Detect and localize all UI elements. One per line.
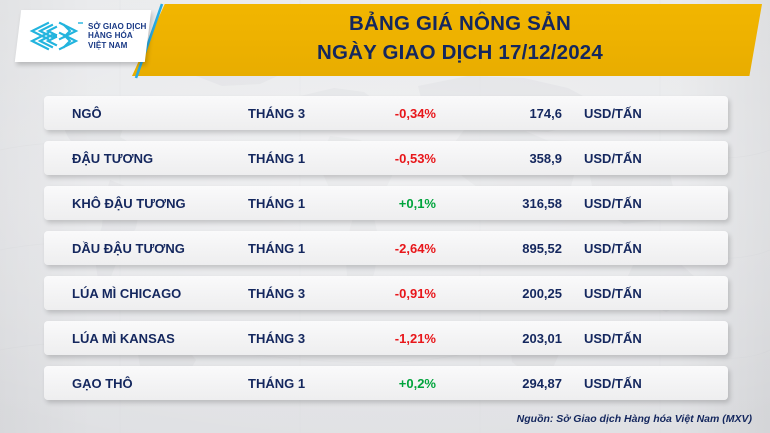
commodity-name: KHÔ ĐẬU TƯƠNG [72, 196, 186, 211]
header: BẢNG GIÁ NÔNG SẢN NGÀY GIAO DỊCH 17/12/2… [0, 0, 770, 82]
table-row[interactable]: DẦU ĐẬU TƯƠNGTHÁNG 1-2,64%895,52USD/TẤN [44, 231, 728, 265]
price-value: 203,01 [444, 331, 562, 346]
contract-month: THÁNG 1 [248, 196, 305, 211]
logo-line-3: VIỆT NAM [88, 41, 146, 51]
price-unit: USD/TẤN [584, 151, 642, 166]
price-change: +0,1% [314, 196, 436, 211]
contract-month: THÁNG 3 [248, 286, 305, 301]
commodity-name: NGÔ [72, 106, 102, 121]
table-row[interactable]: GẠO THÔTHÁNG 1+0,2%294,87USD/TẤN [44, 366, 728, 400]
price-unit: USD/TẤN [584, 331, 642, 346]
title-line-2: NGÀY GIAO DỊCH 17/12/2024 [180, 38, 740, 67]
price-change: -1,21% [314, 331, 436, 346]
price-change: -0,91% [314, 286, 436, 301]
logo-line-2: HÀNG HÓA [88, 31, 146, 41]
table-row[interactable]: NGÔTHÁNG 3-0,34%174,6USD/TẤN [44, 96, 728, 130]
price-value: 316,58 [444, 196, 562, 211]
price-unit: USD/TẤN [584, 106, 642, 121]
price-value: 358,9 [444, 151, 562, 166]
table-row[interactable]: LÚA MÌ KANSASTHÁNG 3-1,21%203,01USD/TẤN [44, 321, 728, 355]
price-value: 174,6 [444, 106, 562, 121]
table-row[interactable]: ĐẬU TƯƠNGTHÁNG 1-0,53%358,9USD/TẤN [44, 141, 728, 175]
commodity-name: LÚA MÌ KANSAS [72, 331, 175, 346]
logo-text: SỞ GIAO DỊCH HÀNG HÓA VIỆT NAM [88, 22, 146, 51]
contract-month: THÁNG 3 [248, 331, 305, 346]
price-unit: USD/TẤN [584, 196, 642, 211]
logo-line-1: SỞ GIAO DỊCH [88, 22, 146, 32]
price-unit: USD/TẤN [584, 286, 642, 301]
price-value: 200,25 [444, 286, 562, 301]
price-value: 294,87 [444, 376, 562, 391]
table-row[interactable]: LÚA MÌ CHICAGOTHÁNG 3-0,91%200,25USD/TẤN [44, 276, 728, 310]
price-change: -0,53% [314, 151, 436, 166]
logo[interactable]: SỞ GIAO DỊCH HÀNG HÓA VIỆT NAM [15, 10, 151, 62]
price-value: 895,52 [444, 241, 562, 256]
commodity-name: GẠO THÔ [72, 376, 133, 391]
price-change: -0,34% [314, 106, 436, 121]
commodity-name: ĐẬU TƯƠNG [72, 151, 153, 166]
source-note: Nguồn: Sở Giao dịch Hàng hóa Việt Nam (M… [517, 413, 752, 425]
contract-month: THÁNG 1 [248, 241, 305, 256]
price-change: +0,2% [314, 376, 436, 391]
price-change: -2,64% [314, 241, 436, 256]
commodity-price-table: NGÔTHÁNG 3-0,34%174,6USD/TẤNĐẬU TƯƠNGTHÁ… [44, 96, 728, 400]
contract-month: THÁNG 1 [248, 151, 305, 166]
page-title: BẢNG GIÁ NÔNG SẢN NGÀY GIAO DỊCH 17/12/2… [180, 9, 740, 67]
commodity-name: LÚA MÌ CHICAGO [72, 286, 181, 301]
mxv-logo-icon [26, 19, 84, 53]
title-line-1: BẢNG GIÁ NÔNG SẢN [180, 9, 740, 38]
table-row[interactable]: KHÔ ĐẬU TƯƠNGTHÁNG 1+0,1%316,58USD/TẤN [44, 186, 728, 220]
contract-month: THÁNG 1 [248, 376, 305, 391]
contract-month: THÁNG 3 [248, 106, 305, 121]
price-unit: USD/TẤN [584, 376, 642, 391]
commodity-name: DẦU ĐẬU TƯƠNG [72, 241, 185, 256]
price-unit: USD/TẤN [584, 241, 642, 256]
